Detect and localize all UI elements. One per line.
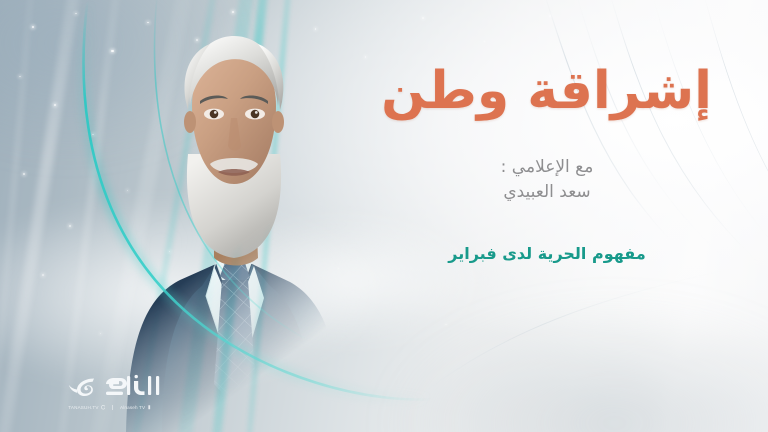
- text-block: إشراقة وطن مع الإعلامي : سعد العبيدي مفه…: [382, 62, 712, 264]
- phone-icon: [147, 405, 152, 410]
- light-shaft: [0, 0, 98, 432]
- teal-streak: [162, 0, 266, 432]
- show-title: إشراقة وطن: [382, 62, 712, 121]
- handle-separator: [112, 405, 113, 410]
- channel-handle-text: TANASUH.TV: [68, 405, 98, 410]
- channel-handles: Alnaseh TV TANASUH.TV: [48, 405, 172, 410]
- teal-streak: [237, 0, 298, 432]
- light-shaft: [63, 0, 215, 432]
- teal-streak: [200, 0, 277, 432]
- channel-handle: Alnaseh TV: [120, 405, 152, 410]
- presenter-role-label: مع الإعلامي :: [382, 155, 712, 180]
- presenter-name: سعد العبيدي: [382, 180, 712, 205]
- presenter-portrait: [118, 14, 350, 432]
- channel-handle: TANASUH.TV: [68, 405, 105, 410]
- haze-bottom-right: [384, 302, 768, 432]
- light-shaft: [41, 0, 135, 432]
- teal-streak: [113, 0, 231, 432]
- presenter-credit: مع الإعلامي : سعد العبيدي: [382, 155, 712, 205]
- channel-handle-text: Alnaseh TV: [120, 405, 145, 410]
- haze-lower-left: [0, 199, 384, 389]
- haze-top-left: [0, 0, 246, 156]
- light-shaft: [0, 0, 44, 432]
- globe-icon: [101, 405, 106, 410]
- episode-title: مفهوم الحرية لدى فبراير: [382, 244, 712, 265]
- broadcast-title-card: إشراقة وطن مع الإعلامي : سعد العبيدي مفه…: [0, 0, 768, 432]
- channel-logo-mark: [48, 372, 172, 402]
- channel-logo: Alnaseh TV TANASUH.TV: [48, 372, 172, 410]
